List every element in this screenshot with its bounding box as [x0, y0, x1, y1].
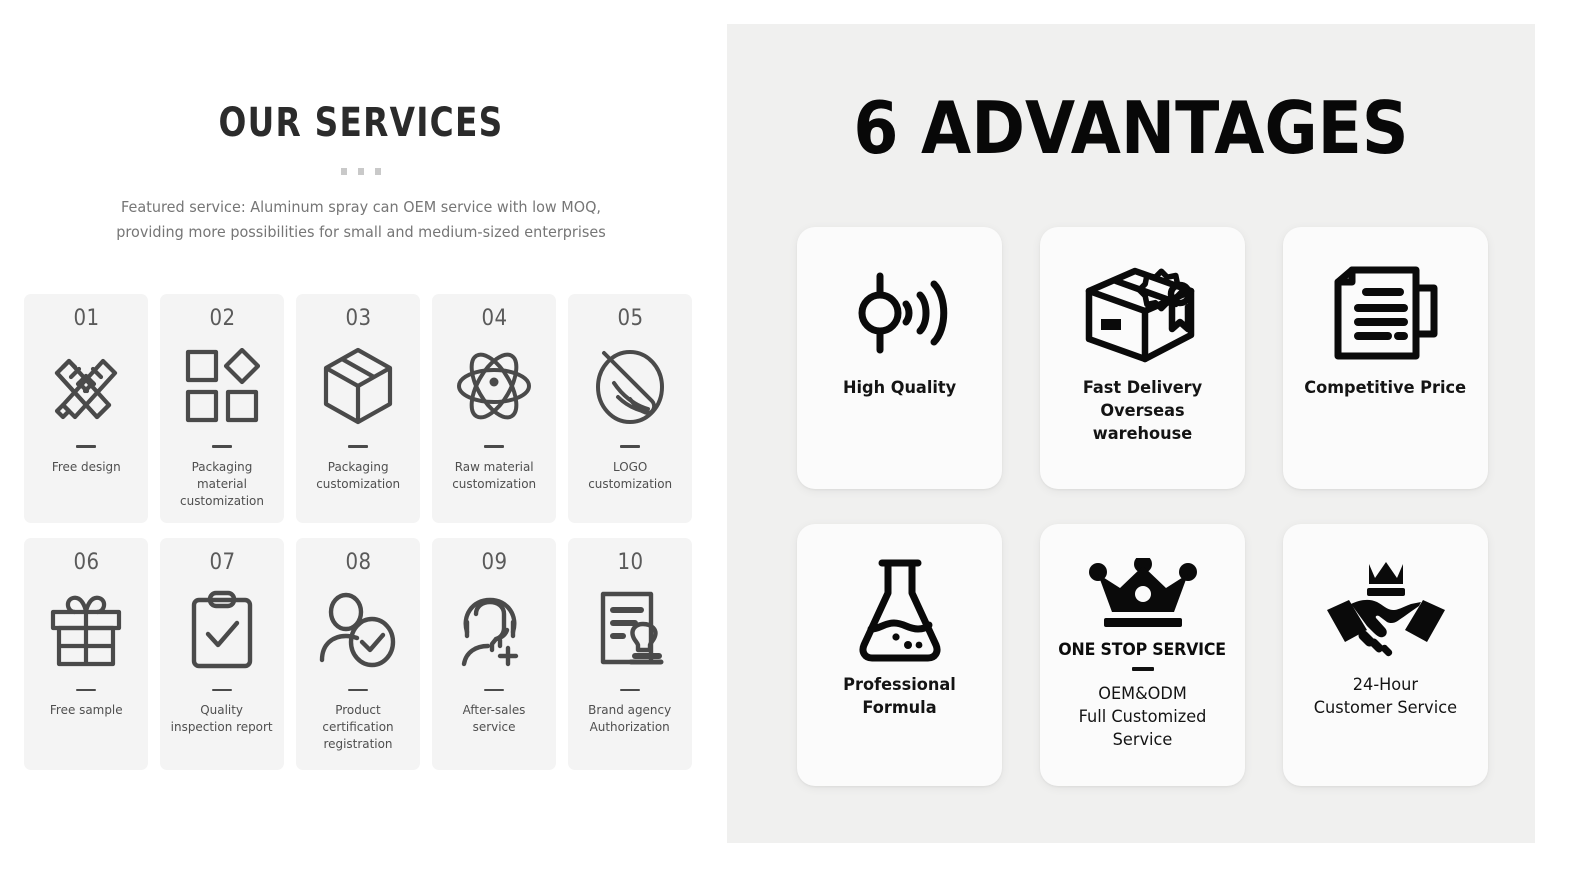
services-header: OUR SERVICES Featured service: Aluminum …	[0, 0, 722, 245]
service-rule	[620, 445, 640, 448]
advantage-card[interactable]: 24-Hour Customer Service	[1283, 524, 1488, 786]
advantage-label: Professional Formula	[812, 674, 988, 720]
advantage-card[interactable]: Fast Delivery Overseas warehouse	[1040, 227, 1245, 489]
advantages-panel: 6 ADVANTAGES High Quality	[727, 24, 1535, 843]
service-label-line2: Authorization	[590, 719, 670, 734]
service-label-line1: Product certification	[322, 702, 393, 734]
service-label-line2: customization	[316, 476, 400, 491]
service-label-line2: customization	[180, 493, 264, 508]
service-label-line2: customization	[588, 476, 672, 491]
advantage-label: Competitive Price	[1305, 377, 1467, 400]
service-label: LOGO customization	[588, 458, 672, 492]
service-number: 09	[481, 550, 507, 575]
service-label-line1: Free design	[52, 459, 121, 474]
advantage-heading: ONE STOP SERVICE	[1059, 640, 1227, 660]
service-card[interactable]: 01 Free design	[24, 294, 148, 523]
service-label: Free sample	[50, 701, 123, 718]
page-title: OUR SERVICES	[65, 100, 657, 146]
advantage-label-line1: 24-Hour	[1353, 675, 1418, 695]
service-label: Packaging customization	[316, 458, 400, 492]
gift-icon	[47, 585, 125, 675]
advantage-label-line2: Customer Service	[1314, 698, 1457, 718]
service-number: 08	[345, 550, 371, 575]
advantage-label: Fast Delivery Overseas warehouse	[1055, 377, 1231, 446]
service-rule	[620, 689, 640, 692]
service-label: Brand agency Authorization	[589, 701, 672, 735]
advantage-label: 24-Hour Customer Service	[1314, 674, 1457, 720]
poster-root: OUR SERVICES Featured service: Aluminum …	[0, 0, 1589, 881]
advantage-rule	[1132, 667, 1154, 671]
open-box-icon	[322, 341, 394, 431]
service-rule	[484, 445, 504, 448]
advantage-label: High Quality	[843, 377, 956, 400]
service-label-line1: Free sample	[50, 702, 123, 717]
divider-dot	[341, 168, 347, 175]
services-subtitle-line1: Featured service: Aluminum spray can OEM…	[25, 195, 696, 220]
advantage-label: OEM&ODM Full Customized Service	[1055, 683, 1231, 752]
service-label: Raw material customization	[452, 458, 536, 492]
our-services-panel: OUR SERVICES Featured service: Aluminum …	[0, 0, 722, 881]
service-label: Free design	[52, 458, 121, 475]
service-rule	[212, 689, 232, 692]
services-subtitle-line2: providing more possibilities for small a…	[25, 220, 696, 245]
advantages-grid: High Quality	[797, 227, 1497, 786]
divider-dot	[358, 168, 364, 175]
service-rule	[348, 445, 368, 448]
service-label: Quality inspection report	[171, 701, 273, 735]
document-price-icon	[1334, 253, 1438, 373]
divider-dots	[0, 168, 722, 175]
advantages-title: 6 ADVANTAGES	[767, 86, 1494, 170]
service-number: 06	[73, 550, 99, 575]
service-number: 01	[73, 306, 99, 331]
handshake-crown-icon	[1323, 550, 1449, 670]
service-card[interactable]: 05 LOGO customization	[568, 294, 692, 523]
service-label: After-sales service	[463, 701, 526, 735]
advantage-label-line1: High Quality	[843, 378, 956, 398]
service-card[interactable]: 03 Packaging customization	[296, 294, 420, 523]
service-label-line1: LOGO	[613, 459, 647, 474]
service-number: 10	[617, 550, 643, 575]
crown-icon	[1088, 550, 1198, 640]
service-rule	[76, 689, 96, 692]
service-card[interactable]: 07 Quality inspection report	[160, 538, 284, 770]
advantage-label-line2: Full Customized Service	[1079, 707, 1207, 750]
service-card[interactable]: 08 Product certification registration	[296, 538, 420, 770]
box-badge-icon	[1083, 253, 1203, 373]
advantage-card[interactable]: Professional Formula	[797, 524, 1002, 786]
service-rule	[348, 689, 368, 692]
service-label-line1: Packaging	[328, 459, 389, 474]
service-number: 05	[617, 306, 643, 331]
service-number: 02	[209, 306, 235, 331]
service-rule	[76, 445, 96, 448]
advantage-label-line1: Competitive Price	[1305, 378, 1467, 398]
advantage-label-line2: Overseas warehouse	[1093, 401, 1192, 444]
service-number: 07	[209, 550, 235, 575]
service-card[interactable]: 09 After-sales service	[432, 538, 556, 770]
service-label-line1: Packaging material	[192, 459, 253, 491]
service-label-line2: registration	[323, 736, 392, 751]
shapes-grid-icon	[184, 341, 260, 431]
service-card[interactable]: 06 Free sample	[24, 538, 148, 770]
certificate-stamp-icon	[595, 585, 665, 675]
service-number: 03	[345, 306, 371, 331]
flask-icon	[856, 550, 944, 670]
service-rule	[484, 689, 504, 692]
user-verified-icon	[319, 585, 397, 675]
service-label-line1: Raw material	[455, 459, 534, 474]
ruler-pencil-icon	[49, 341, 123, 431]
service-label-line2: inspection report	[171, 719, 273, 734]
signal-quality-icon	[852, 253, 948, 373]
service-label-line1: Quality	[201, 702, 244, 717]
atom-icon	[455, 341, 533, 431]
service-card[interactable]: 04 Raw material customization	[432, 294, 556, 523]
brush-circle-icon	[592, 341, 668, 431]
advantage-label-line1: Fast Delivery	[1083, 378, 1202, 398]
advantage-label-line1: OEM&ODM	[1098, 684, 1187, 704]
service-number: 04	[481, 306, 507, 331]
service-label-line2: service	[473, 719, 516, 734]
service-label: Packaging material customization	[169, 458, 275, 509]
service-card[interactable]: 02 Packaging material customization	[160, 294, 284, 523]
advantage-card[interactable]: Competitive Price	[1283, 227, 1488, 489]
services-grid: 01 Free design	[24, 294, 692, 770]
service-label-line1: Brand agency	[589, 702, 672, 717]
service-label-line1: After-sales	[463, 702, 526, 717]
headset-plus-icon	[456, 585, 532, 675]
services-subtitle: Featured service: Aluminum spray can OEM…	[25, 195, 696, 245]
advantage-card[interactable]: ONE STOP SERVICE OEM&ODM Full Customized…	[1040, 524, 1245, 786]
advantage-card[interactable]: High Quality	[797, 227, 1002, 489]
service-label-line2: customization	[452, 476, 536, 491]
divider-dot	[375, 168, 381, 175]
service-card[interactable]: 10 Brand agency Authorization	[568, 538, 692, 770]
service-rule	[212, 445, 232, 448]
advantage-label-line1: Professional Formula	[843, 675, 956, 718]
clipboard-check-icon	[189, 585, 255, 675]
service-label: Product certification registration	[305, 701, 411, 752]
